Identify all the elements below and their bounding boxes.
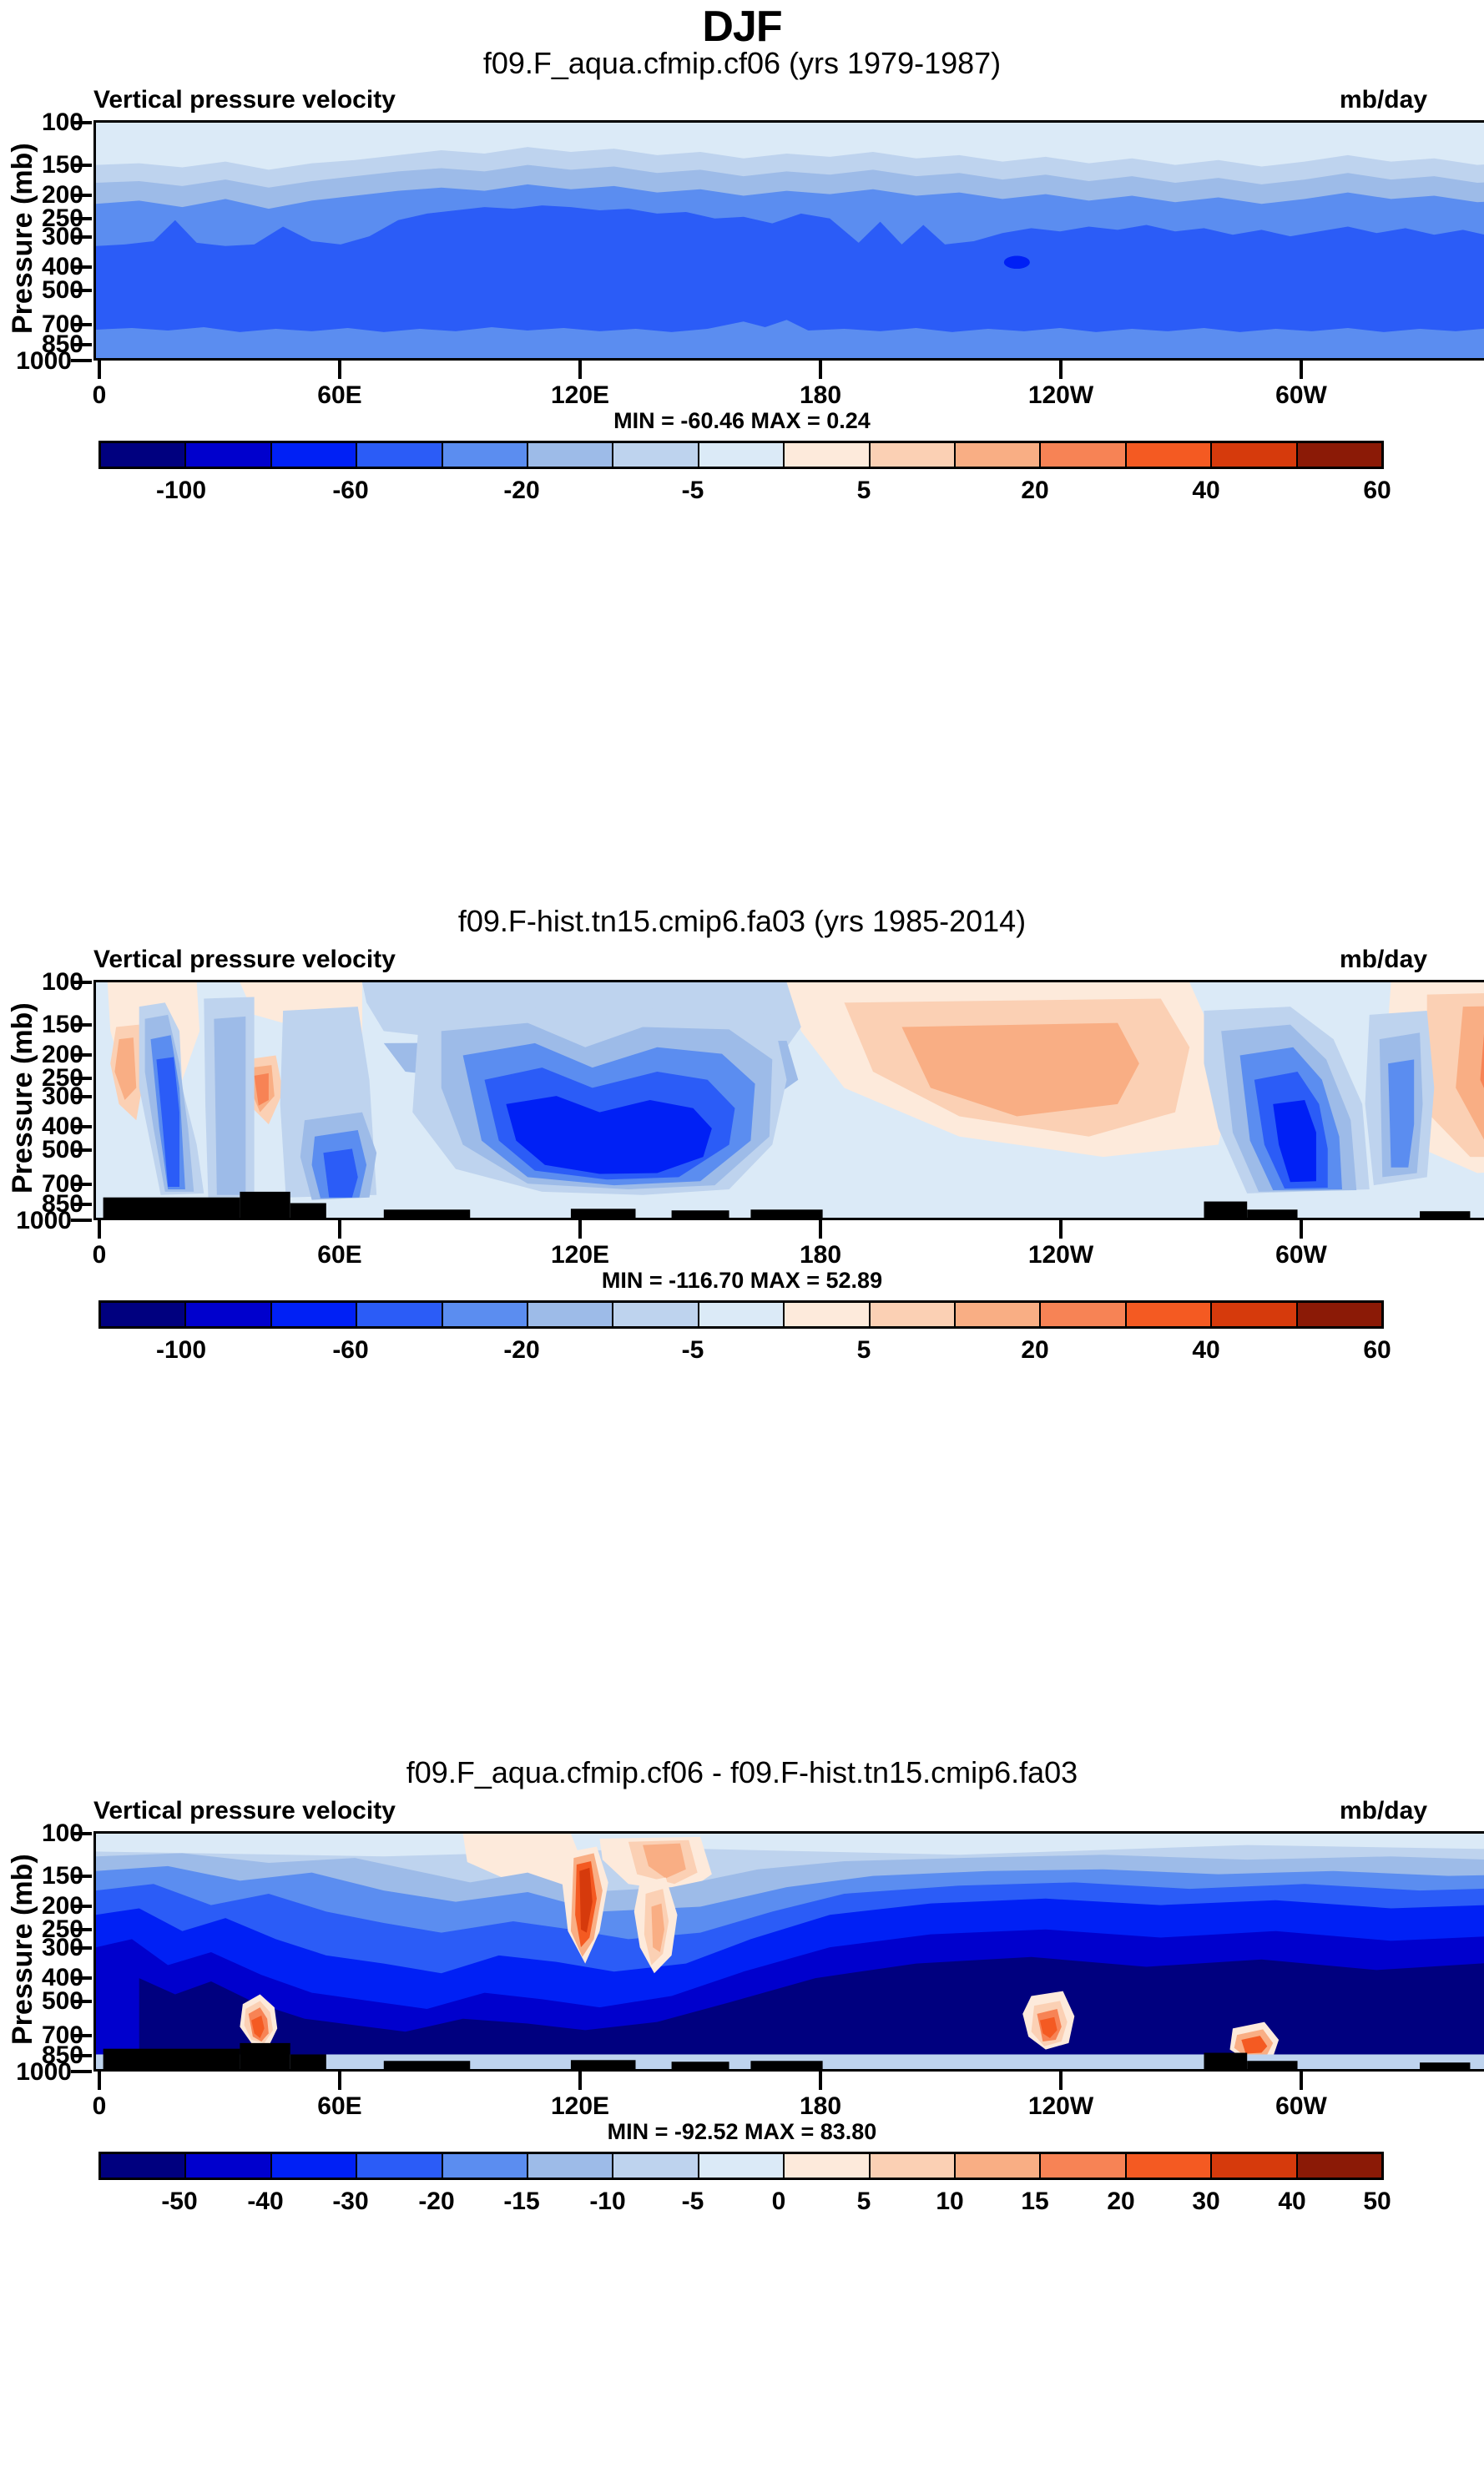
panel-1-xtick-60W: 60W [1243,383,1360,408]
colorbar-cell [785,443,870,467]
panel-2-cbar-label-60: 60 [1327,1338,1427,1363]
panel-3-xtickmark [338,2072,341,2090]
panel-1-xtickmark [819,361,822,379]
panel-2-xtickmark [578,1220,582,1239]
panel-1-ytickmark [71,343,92,346]
colorbar-cell [785,2154,870,2178]
panel-1-ytickmark [71,235,92,239]
panel-3-ytickmark [71,1832,92,1835]
colorbar-cell [443,2154,528,2178]
panel-3-xtick-180: 180 [762,2094,879,2119]
colorbar-cell [1041,443,1126,467]
panel-2-ytickmark [71,1095,92,1098]
colorbar-cell [186,1303,271,1326]
panel-2-ytickmark [71,1125,92,1128]
panel-1-cbar-label--20: -20 [472,478,572,503]
panel-1-minmax: MIN = -60.46 MAX = 0.24 [0,408,1484,434]
colorbar-cell [186,443,271,467]
panel-2-cbar-label-5: 5 [814,1338,914,1363]
panel-3-xtick-60E: 60E [281,2094,398,2119]
panel-3-cbar-label--30: -30 [300,2189,401,2214]
panel-3-xtickmark [578,2072,582,2090]
panel-2-cbar-label-40: 40 [1156,1338,1256,1363]
panel-1-cbar-label-40: 40 [1156,478,1256,503]
panel-1-cbar-label-20: 20 [985,478,1085,503]
colorbar-cell [528,1303,613,1326]
panel-3-ytick-1000: 1000 [0,2060,72,2085]
panel-2-xtickmark [1300,1220,1303,1239]
panel-1-ytickmark [71,265,92,269]
colorbar-cell [272,2154,357,2178]
panel-2-contour-svg [96,982,1484,1218]
panel-3-xtick-0: 0 [41,2094,158,2119]
panel-3-cbar-label-5: 5 [814,2189,914,2214]
panel-2-units-label: mb/day [0,946,1484,974]
panel-1-title: f09.F_aqua.cfmip.cf06 (yrs 1979-1987) [0,46,1484,81]
colorbar-cell [871,1303,956,1326]
colorbar-cell [1127,2154,1212,2178]
panel-3-cbar-label-15: 15 [985,2189,1085,2214]
panel-2-minmax: MIN = -116.70 MAX = 52.89 [0,1268,1484,1294]
panel-2-ytickmark [71,981,92,984]
colorbar-cell [357,443,442,467]
colorbar-cell [1041,2154,1126,2178]
panel-3: f09.F_aqua.cfmip.cf06 - f09.F-hist.tn15.… [0,1703,1484,2483]
panel-1-contour-svg [96,123,1484,358]
panel-3-cbar-label--50: -50 [129,2189,230,2214]
panel-2-cbar-label-20: 20 [985,1338,1085,1363]
panel-3-plot [93,1831,1484,2072]
panel-2-xtick-180: 180 [762,1243,879,1268]
colorbar-cell [272,1303,357,1326]
panel-3-xtickmark [98,2072,101,2090]
panel-2-ytickmark [71,1219,92,1222]
panel-3-y-axis-title: Pressure (mb) [7,1854,39,2045]
colorbar-cell [613,443,699,467]
panel-2-ytickmark [71,1148,92,1152]
panel-3-ytickmark [71,2034,92,2037]
colorbar-cell [613,2154,699,2178]
panel-1-xtickmark [578,361,582,379]
panel-2-xtickmark [819,1220,822,1239]
colorbar-cell [956,2154,1041,2178]
panel-3-xtick-60W: 60W [1243,2094,1360,2119]
panel-1-ytickmark [71,194,92,197]
colorbar-cell [101,2154,186,2178]
colorbar-cell [1212,2154,1297,2178]
colorbar-cell [357,1303,442,1326]
panel-2-xtickmark [338,1220,341,1239]
colorbar-cell [1127,443,1212,467]
panel-2-ytickmark [71,1203,92,1206]
colorbar-cell [186,2154,271,2178]
panel-2-y-axis-title: Pressure (mb) [7,1002,39,1194]
colorbar-cell [956,443,1041,467]
panel-1-ytick-1000: 1000 [0,349,72,374]
panel-2-ytickmark [71,1183,92,1186]
panel-2-xtick-120E: 120E [522,1243,639,1268]
colorbar-cell [785,1303,870,1326]
panel-3-cbar-label--5: -5 [643,2189,743,2214]
panel-3-ytickmark [71,1946,92,1950]
panel-2-xtick-0: 0 [41,1243,158,1268]
panel-2-cbar-label--5: -5 [643,1338,743,1363]
panel-2-cbar-label--20: -20 [472,1338,572,1363]
colorbar-cell [613,1303,699,1326]
panel-1-ytickmark [71,217,92,220]
panel-2-cbar-label--60: -60 [300,1338,401,1363]
colorbar-cell [101,443,186,467]
panel-3-units-label: mb/day [0,1797,1484,1825]
panel-1-xtick-180: 180 [762,383,879,408]
colorbar-cell [443,1303,528,1326]
panel-2-plot [93,980,1484,1220]
panel-2-xtick-60E: 60E [281,1243,398,1268]
panel-2-xtick-120W: 120W [1002,1243,1119,1268]
panel-1-ytickmark [71,164,92,167]
panel-3-ytickmark [71,1905,92,1908]
panel-2-cbar-label--100: -100 [131,1338,231,1363]
panel-3-title: f09.F_aqua.cfmip.cf06 - f09.F-hist.tn15.… [0,1755,1484,1790]
colorbar-cell [1298,2154,1381,2178]
panel-3-ytickmark [71,2070,92,2073]
panel-2-colorbar [98,1300,1384,1329]
panel-3-contour-svg [96,1834,1484,2069]
panel-1-xtick-120W: 120W [1002,383,1119,408]
colorbar-cell [1212,1303,1297,1326]
colorbar-cell [1212,443,1297,467]
colorbar-cell [272,443,357,467]
panel-1-y-axis-title: Pressure (mb) [7,143,39,334]
panel-3-minmax: MIN = -92.52 MAX = 83.80 [0,2119,1484,2145]
colorbar-cell [443,443,528,467]
colorbar-cell [1127,1303,1212,1326]
panel-1-cbar-label--100: -100 [131,478,231,503]
panel-3-colorbar [98,2152,1384,2180]
panel-3-xtickmark [1300,2072,1303,2090]
panel-3-xtickmark [819,2072,822,2090]
panel-3-xtickmark [1059,2072,1063,2090]
colorbar-cell [357,2154,442,2178]
colorbar-cell [956,1303,1041,1326]
colorbar-cell [528,2154,613,2178]
panel-3-cbar-label-50: 50 [1327,2189,1427,2214]
colorbar-cell [699,443,785,467]
panel-3-cbar-label--15: -15 [472,2189,572,2214]
panel-3-ytickmark [71,2054,92,2057]
colorbar-cell [1298,1303,1381,1326]
panel-1-plot [93,120,1484,361]
panel-1-ytickmark [71,323,92,326]
panel-3-xtick-120W: 120W [1002,2094,1119,2119]
panel-2-ytickmark [71,1023,92,1027]
panel-3-xtick-120E: 120E [522,2094,639,2119]
panel-2-ytickmark [71,1053,92,1057]
panel-3-ytickmark [71,1875,92,1878]
panel-1: f09.F_aqua.cfmip.cf06 (yrs 1979-1987) Ve… [0,0,1484,885]
panel-3-ytickmark [71,1928,92,1931]
panel-3-cbar-label-30: 30 [1156,2189,1256,2214]
panel-2-ytick-1000: 1000 [0,1209,72,1234]
colorbar-cell [699,2154,785,2178]
panel-1-ytickmark [71,289,92,292]
panel-2-xtick-60W: 60W [1243,1243,1360,1268]
colorbar-cell [528,443,613,467]
panel-1-xtick-0: 0 [41,383,158,408]
panel-1-xtick-60E: 60E [281,383,398,408]
panel-1-xtickmark [1059,361,1063,379]
panel-1-cbar-label--5: -5 [643,478,743,503]
panel-2: f09.F-hist.tn15.cmip6.fa03 (yrs 1985-201… [0,851,1484,1736]
colorbar-cell [1298,443,1381,467]
panel-1-xtickmark [338,361,341,379]
panel-2-xtickmark [98,1220,101,1239]
panel-2-xtickmark [1059,1220,1063,1239]
colorbar-cell [871,443,956,467]
panel-3-ytickmark [71,1976,92,1980]
panel-1-xtickmark [98,361,101,379]
panel-2-ytickmark [71,1077,92,1080]
panel-1-units-label: mb/day [0,86,1484,114]
panel-1-ytickmark [71,121,92,124]
colorbar-cell [871,2154,956,2178]
panel-1-cbar-label-5: 5 [814,478,914,503]
panel-1-cbar-label--60: -60 [300,478,401,503]
colorbar-cell [699,1303,785,1326]
colorbar-cell [101,1303,186,1326]
panel-3-ytickmark [71,2000,92,2003]
panel-1-xtickmark [1300,361,1303,379]
panel-1-colorbar [98,441,1384,469]
panel-1-ytickmark [71,359,92,362]
panel-2-title: f09.F-hist.tn15.cmip6.fa03 (yrs 1985-201… [0,904,1484,939]
panel-1-cbar-label-60: 60 [1327,478,1427,503]
colorbar-cell [1041,1303,1126,1326]
panel-1-xtick-120E: 120E [522,383,639,408]
